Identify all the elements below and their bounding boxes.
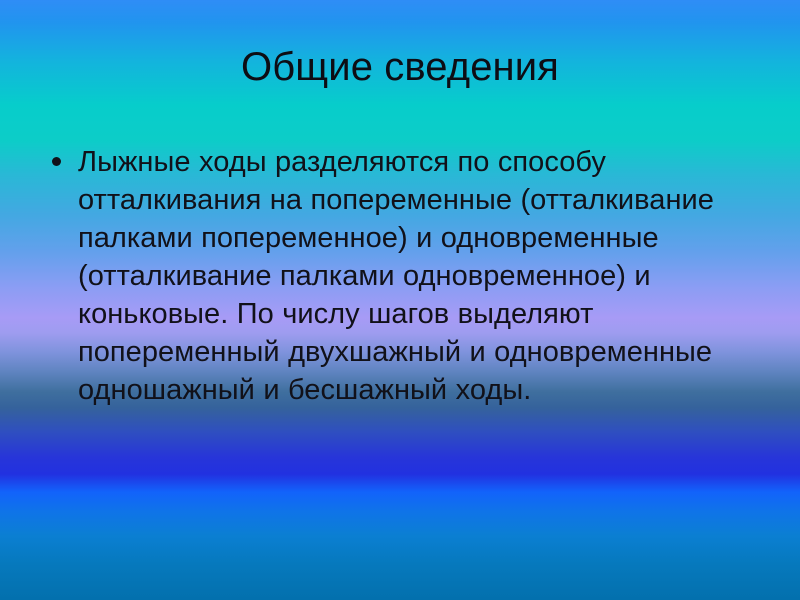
bullet-dot-icon (52, 157, 61, 166)
list-item: Лыжные ходы разделяются по способу оттал… (48, 143, 774, 409)
page-title: Общие сведения (0, 44, 800, 90)
presentation-slide: Общие сведения Лыжные ходы разделяются п… (0, 0, 800, 600)
slide-body-content: Лыжные ходы разделяются по способу оттал… (48, 143, 774, 409)
list-item-label: Лыжные ходы разделяются по способу оттал… (78, 143, 774, 409)
